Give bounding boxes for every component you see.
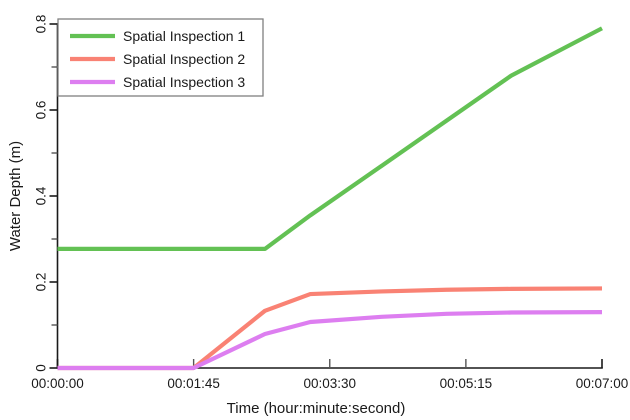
- y-tick-label: 0: [34, 364, 49, 372]
- y-tick-label: 0.4: [34, 186, 49, 205]
- line-chart-plot: 00:00:0000:01:4500:03:3000:05:1500:07:00…: [0, 0, 630, 420]
- x-tick-label: 00:00:00: [31, 376, 84, 391]
- y-axis-title: Water Depth (m): [7, 141, 24, 251]
- x-tick-label: 00:01:45: [167, 376, 220, 391]
- chart-legend: Spatial Inspection 1Spatial Inspection 2…: [58, 19, 263, 96]
- legend-label-3: Spatial Inspection 3: [123, 74, 245, 90]
- chart-container: 00:00:0000:01:4500:03:3000:05:1500:07:00…: [0, 0, 630, 420]
- y-tick-label: 0.8: [34, 15, 49, 34]
- legend-label-1: Spatial Inspection 1: [123, 28, 245, 44]
- x-tick-label: 00:05:15: [440, 376, 493, 391]
- y-tick-label-group: 00.20.40.60.8: [34, 15, 49, 372]
- x-axis-title: Time (hour:minute:second): [227, 400, 406, 417]
- y-tick-label: 0.6: [34, 101, 49, 120]
- y-tick-label: 0.2: [34, 273, 49, 292]
- series-line-2: [58, 288, 603, 368]
- x-tick-label: 00:07:00: [576, 376, 629, 391]
- x-tick-label: 00:03:30: [303, 376, 356, 391]
- legend-label-2: Spatial Inspection 2: [123, 51, 245, 67]
- x-tick-label-group: 00:00:0000:01:4500:03:3000:05:1500:07:00: [31, 376, 628, 391]
